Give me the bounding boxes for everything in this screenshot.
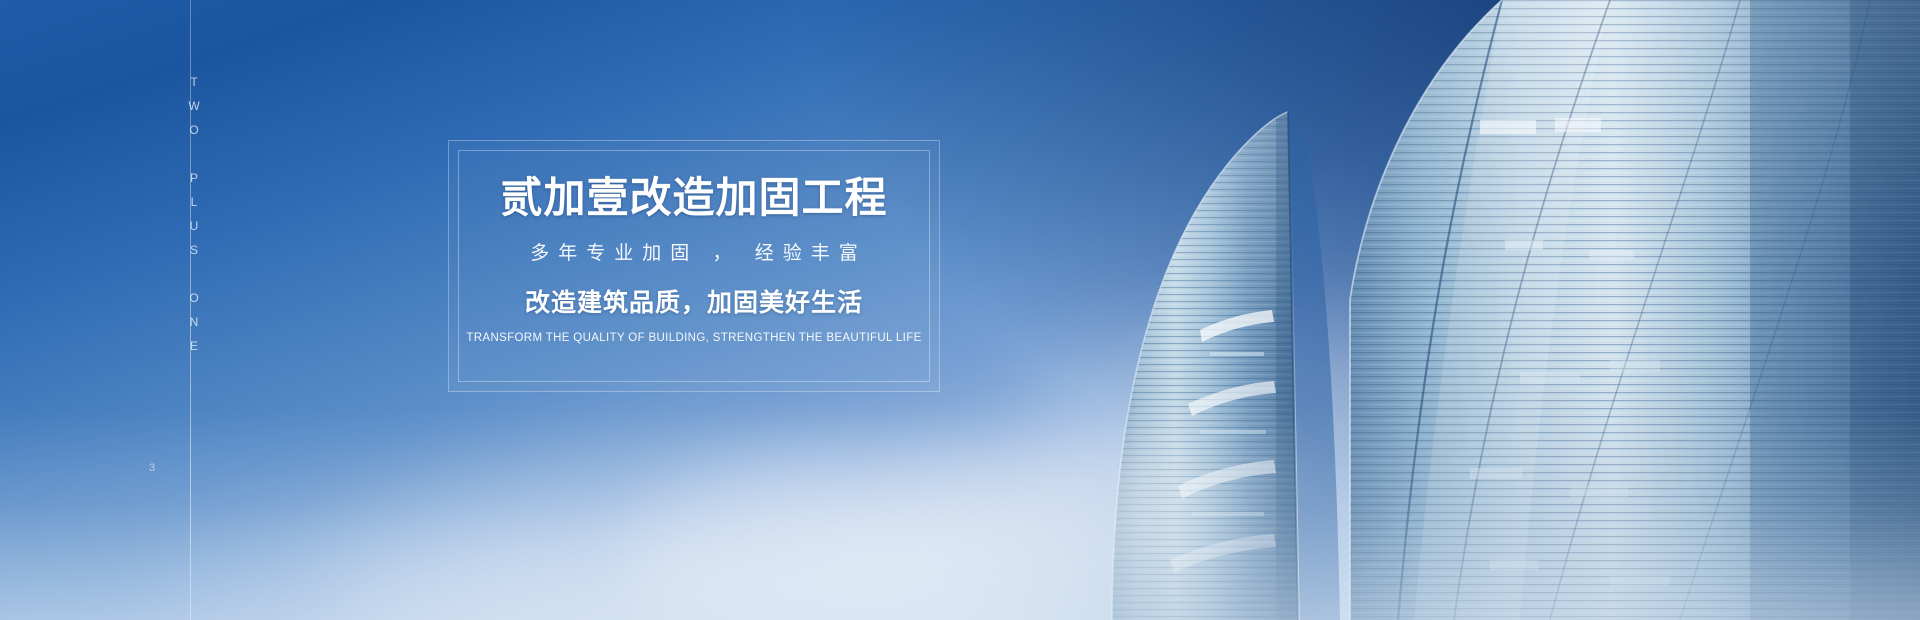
headline-panel-content: 贰加壹改造加固工程 多年专业加固 ， 经验丰富 改造建筑品质，加固美好生活 TR… xyxy=(449,175,939,346)
banner-tagline: 改造建筑品质，加固美好生活 xyxy=(449,288,939,318)
cloud-haze-mid xyxy=(1020,300,1540,510)
bottom-haze xyxy=(0,410,1920,620)
cloud-upper-center xyxy=(880,400,1300,580)
banner-headline: 贰加壹改造加固工程 xyxy=(449,175,939,220)
headline-panel: 贰加壹改造加固工程 多年专业加固 ， 经验丰富 改造建筑品质，加固美好生活 TR… xyxy=(448,140,940,392)
tower-left xyxy=(1100,100,1310,620)
cloud-lower-center xyxy=(620,420,1260,620)
cloud-haze-left xyxy=(140,480,700,620)
tower-right xyxy=(1340,0,1920,620)
slide-index-marker: 3 xyxy=(146,462,158,475)
banner-english-line: TRANSFORM THE QUALITY OF BUILDING, STREN… xyxy=(449,331,939,346)
cloud-lower-left xyxy=(300,410,1120,620)
skyscraper-illustration xyxy=(1050,0,1920,620)
banner-subline: 多年专业加固 ， 经验丰富 xyxy=(449,242,939,267)
tower-gap xyxy=(1290,112,1340,620)
vertical-brand-text: TWO PLUS ONE xyxy=(186,75,202,363)
hero-banner: TWO PLUS ONE 3 贰加壹改造加固工程 多年专业加固 ， 经验丰富 改… xyxy=(0,0,1920,620)
